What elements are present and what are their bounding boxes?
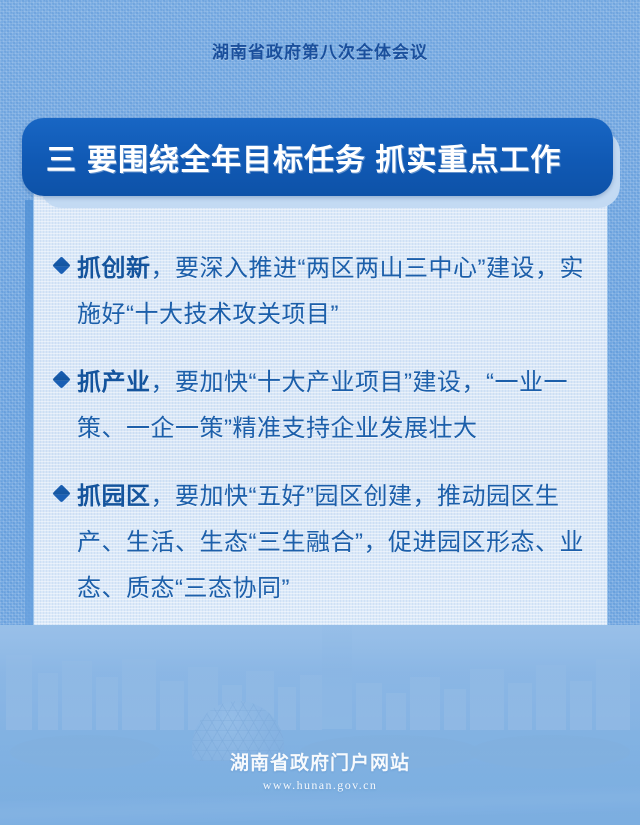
footer-site-name: 湖南省政府门户网站 (0, 748, 640, 775)
bullet-text: 抓园区，要加快“五好”园区创建，推动园区生产、生活、生态“三生融合”，促进园区形… (77, 474, 600, 612)
city-photo-footer: 湖南省政府门户网站 www.hunan.gov.cn (0, 625, 640, 825)
bullet-list: 抓创新，要深入推进“两区两山三中心”建设，实施好“十大技术攻关项目” 抓产业，要… (55, 246, 600, 634)
diamond-bullet-icon (52, 370, 70, 388)
bullet-lead: 抓创新 (77, 255, 151, 282)
bullet-rest: ，要深入推进“两区两山三中心”建设，实施好“十大技术攻关项目” (77, 255, 584, 328)
list-item: 抓园区，要加快“五好”园区创建，推动园区生产、生活、生态“三生融合”，促进园区形… (55, 474, 600, 612)
bullet-text: 抓创新，要深入推进“两区两山三中心”建设，实施好“十大技术攻关项目” (77, 246, 600, 338)
diamond-bullet-icon (52, 484, 70, 502)
bullet-lead: 抓产业 (77, 369, 151, 396)
diamond-bullet-icon (52, 256, 70, 274)
header-title: 湖南省政府第八次全体会议 (212, 38, 428, 63)
poster-root: 湖南省政府第八次全体会议 三要围绕全年目标任务 抓实重点工作 抓创新，要深入推进… (0, 0, 640, 825)
list-item: 抓创新，要深入推进“两区两山三中心”建设，实施好“十大技术攻关项目” (55, 246, 600, 338)
banner-text: 三要围绕全年目标任务 抓实重点工作 (46, 135, 561, 179)
banner-title: 要围绕全年目标任务 抓实重点工作 (87, 144, 561, 177)
list-item: 抓产业，要加快“十大产业项目”建设，“一业一策、一企一策”精准支持企业发展壮大 (55, 360, 600, 452)
header: 湖南省政府第八次全体会议 (0, 0, 640, 100)
banner-number: 三 (46, 144, 77, 177)
bullet-text: 抓产业，要加快“十大产业项目”建设，“一业一策、一企一策”精准支持企业发展壮大 (77, 360, 600, 452)
footer-brand: 湖南省政府门户网站 www.hunan.gov.cn (0, 748, 640, 793)
section-title-banner: 三要围绕全年目标任务 抓实重点工作 (22, 118, 613, 196)
footer-url: www.hunan.gov.cn (0, 778, 640, 793)
photo-blue-overlay (0, 625, 640, 825)
bullet-rest: ，要加快“十大产业项目”建设，“一业一策、一企一策”精准支持企业发展壮大 (77, 369, 568, 442)
bullet-lead: 抓园区 (77, 483, 151, 510)
bullet-rest: ，要加快“五好”园区创建，推动园区生产、生活、生态“三生融合”，促进园区形态、业… (77, 483, 584, 602)
